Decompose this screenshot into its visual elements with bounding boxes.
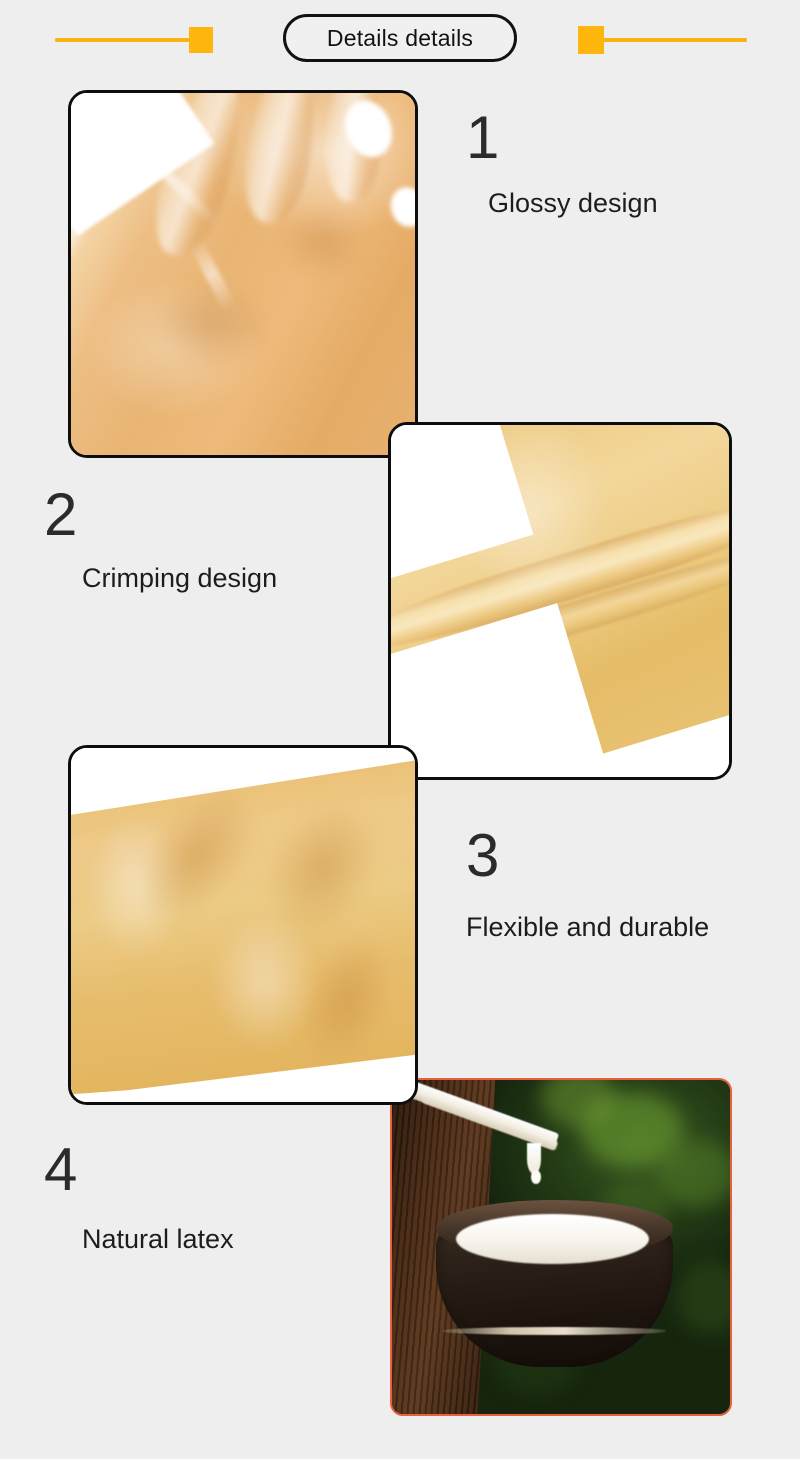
feature-text-4: 4 Natural latex [44,1140,234,1255]
feature-number-2: 2 [44,485,277,545]
header-square-right-icon [578,26,604,54]
header-square-left-icon [189,27,213,53]
feature-number-1: 1 [466,108,658,168]
stretched-latex-band-photo [71,748,415,1102]
feature-text-1: 1 Glossy design [466,108,658,219]
feature-text-2: 2 Crimping design [44,485,277,594]
feature-image-card-4[interactable] [390,1078,732,1416]
rubber-tree-tapping-photo [392,1080,730,1414]
feature-text-3: 3 Flexible and durable [466,826,709,943]
header-line-left-icon [55,38,195,42]
feature-label-2: Crimping design [44,563,277,594]
feature-label-3: Flexible and durable [466,912,709,943]
feature-image-card-3[interactable] [68,745,418,1105]
page-title: Details details [327,25,473,52]
glove-fingers-closeup-photo [71,93,415,455]
header-line-right-icon [602,38,747,42]
page-title-pill: Details details [283,14,517,62]
feature-number-3: 3 [466,826,709,886]
feature-label-4: Natural latex [44,1224,234,1255]
feature-number-4: 4 [44,1140,234,1200]
product-details-page: Details details 1 Glossy design [0,0,800,1459]
feature-image-card-1[interactable] [68,90,418,458]
page-header: Details details [0,0,800,80]
glove-crimped-cuff-photo [391,425,729,777]
feature-image-card-2[interactable] [388,422,732,780]
feature-label-1: Glossy design [466,188,658,219]
